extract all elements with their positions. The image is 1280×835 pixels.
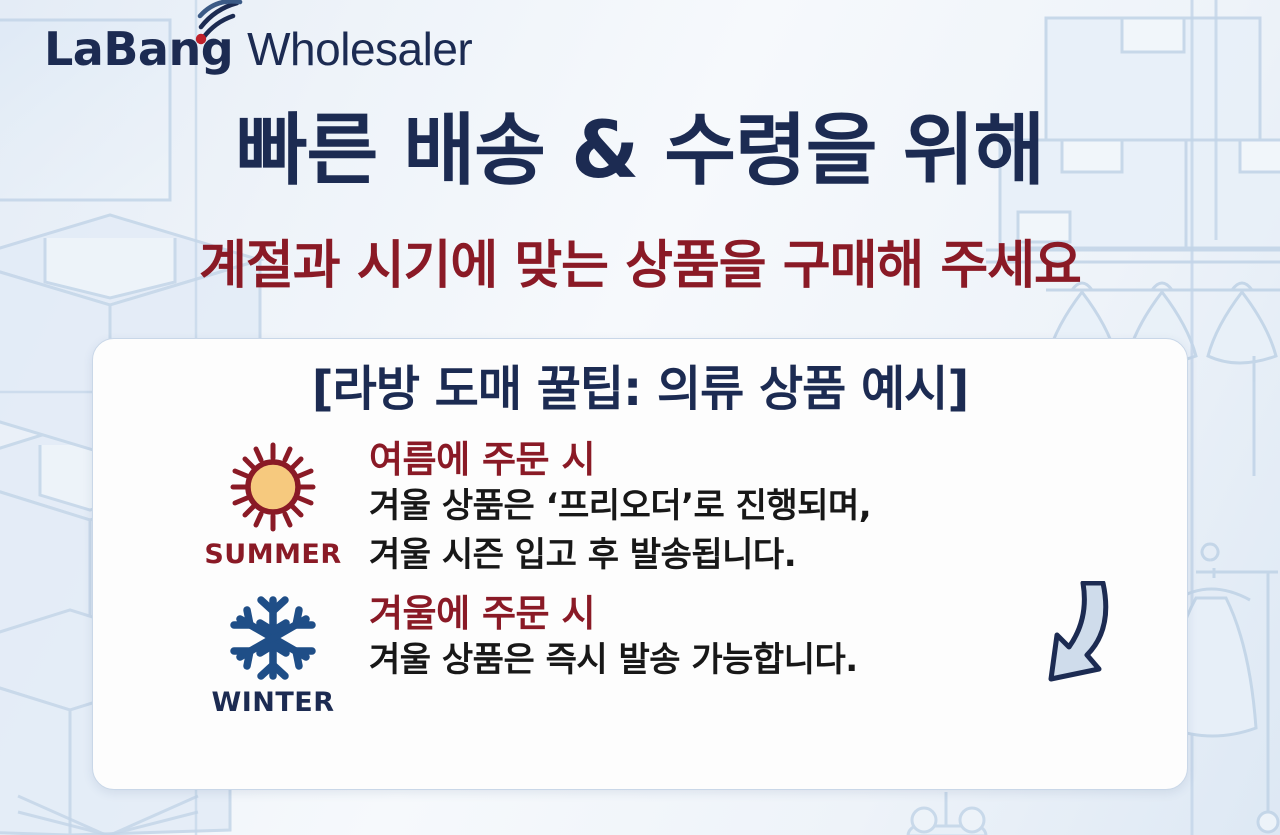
season-label-winter: WINTER <box>211 687 334 718</box>
season-heading-winter: 겨울에 주문 시 <box>369 593 858 634</box>
season-text-summer: 여름에 주문 시 겨울 상품은 ‘프리오더’로 진행되며, 겨울 시즌 입고 후… <box>357 437 871 577</box>
brand-name-secondary: Wholesaler <box>247 26 472 72</box>
season-badge-winter: WINTER <box>189 591 357 718</box>
season-label-summer: SUMMER <box>204 539 341 570</box>
hand-cart-bottom <box>908 792 986 835</box>
season-body-summer-line-1: 겨울 상품은 ‘프리오더’로 진행되며, <box>369 484 871 528</box>
brand-logo: LaBang Wholesaler <box>44 26 472 72</box>
season-heading-summer: 여름에 주문 시 <box>369 439 871 480</box>
wifi-signal-icon <box>192 0 244 46</box>
sun-icon <box>225 441 321 533</box>
page-headline: 빠른 배송 & 수령을 위해 <box>0 112 1280 190</box>
season-body-winter-line-1: 겨울 상품은 즉시 발송 가능합니다. <box>369 638 858 682</box>
season-text-winter: 겨울에 주문 시 겨울 상품은 즉시 발송 가능합니다. <box>357 591 858 683</box>
season-row-summer: SUMMER 여름에 주문 시 겨울 상품은 ‘프리오더’로 진행되며, 겨울 … <box>93 437 1187 577</box>
curved-arrow-down-left-icon <box>1017 581 1113 693</box>
season-badge-summer: SUMMER <box>189 437 357 570</box>
snowflake-icon <box>227 595 319 681</box>
tip-card: [라방 도매 꿀팁: 의류 상품 예시] <box>92 338 1188 790</box>
card-title: [라방 도매 꿀팁: 의류 상품 예시] <box>93 365 1187 413</box>
season-body-summer-line-2: 겨울 시즌 입고 후 발송됩니다. <box>369 533 871 577</box>
page-subheadline: 계절과 시기에 맞는 상품을 구매해 주세요 <box>0 240 1280 292</box>
